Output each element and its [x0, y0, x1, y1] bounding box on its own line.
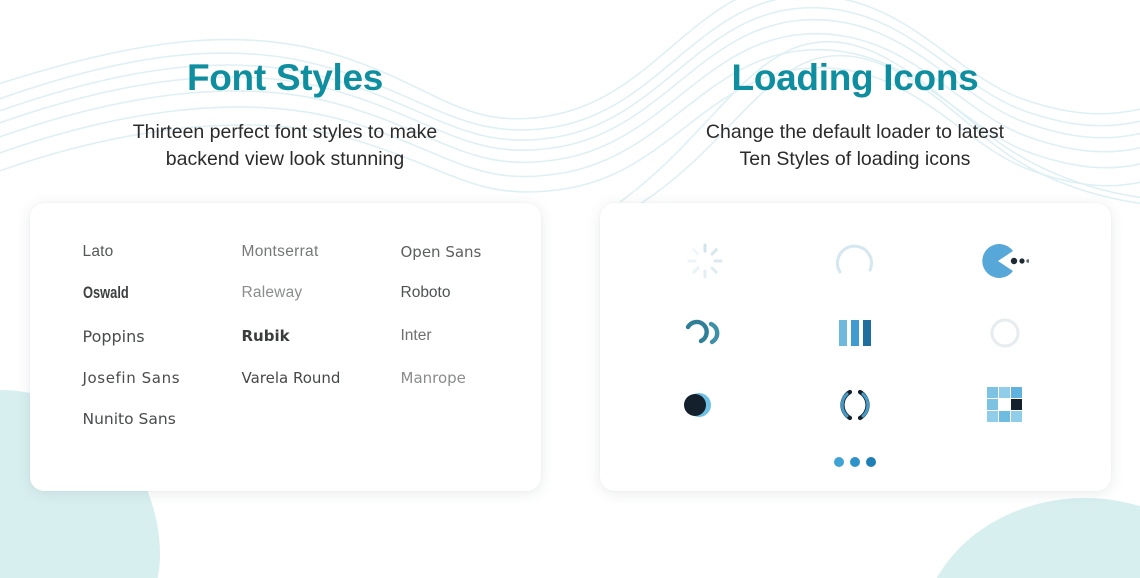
paren-arcs-icon	[835, 385, 875, 425]
three-bars-icon	[835, 316, 875, 350]
font-item-varela-round[interactable]: Varela Round	[242, 369, 401, 387]
font-item-nunito-sans[interactable]: Nunito Sans	[83, 410, 242, 429]
spinner-dashes-icon	[685, 241, 725, 281]
loader-cell-4[interactable]	[675, 303, 735, 363]
loader-row-4	[630, 441, 1081, 483]
double-crescent-icon	[682, 317, 728, 349]
loader-cell-2[interactable]	[825, 231, 885, 291]
loader-cell-6[interactable]	[975, 303, 1035, 363]
font-item-manrope[interactable]: Manrope	[401, 369, 497, 387]
font-item-open-sans[interactable]: Open Sans	[401, 243, 497, 262]
font-item-lato[interactable]: Lato	[83, 243, 242, 262]
loader-cell-8[interactable]	[825, 375, 885, 435]
font-item-oswald[interactable]: Oswald	[83, 284, 207, 304]
loading-icons-subtitle-line-1: Change the default loader to latest	[706, 121, 1004, 143]
loader-cell-1[interactable]	[675, 231, 735, 291]
font-item-raleway[interactable]: Raleway	[242, 284, 401, 304]
loader-cell-7[interactable]	[675, 375, 735, 435]
font-item-montserrat[interactable]: Montserrat	[242, 243, 401, 262]
font-item-inter[interactable]: Inter	[401, 327, 497, 346]
loader-cell-3[interactable]	[975, 231, 1035, 291]
pacman-loader-icon	[981, 244, 1029, 278]
font-item-rubik[interactable]: Rubik	[242, 327, 401, 346]
loading-icons-subtitle-line-2: Ten Styles of loading icons	[740, 148, 971, 170]
font-grid-spacer-a	[242, 410, 401, 429]
font-styles-subtitle-line-2: backend view look stunning	[166, 148, 405, 170]
panel-loading-icons: Loading Icons Change the default loader …	[570, 0, 1140, 578]
grid-squares-icon	[986, 386, 1024, 424]
loader-cell-10[interactable]	[825, 432, 885, 492]
font-styles-subtitle-line-1: Thirteen perfect font styles to make	[133, 121, 438, 143]
font-styles-title: Font Styles	[187, 58, 383, 99]
panel-font-styles: Font Styles Thirteen perfect font styles…	[0, 0, 570, 578]
font-styles-subtitle: Thirteen perfect font styles to make bac…	[133, 119, 438, 173]
page-stage: Font Styles Thirteen perfect font styles…	[0, 0, 1140, 578]
arc-spinner-icon	[833, 239, 877, 283]
two-circles-icon	[682, 390, 728, 420]
loading-icons-card	[600, 203, 1111, 491]
font-item-josefin-sans[interactable]: Josefin Sans	[83, 369, 242, 387]
loader-cell-9[interactable]	[975, 375, 1035, 435]
font-styles-card: Lato Montserrat Open Sans Oswald Raleway…	[30, 203, 541, 491]
loader-cell-5[interactable]	[825, 303, 885, 363]
font-item-poppins[interactable]: Poppins	[83, 327, 242, 346]
loader-grid	[630, 225, 1081, 441]
font-list: Lato Montserrat Open Sans Oswald Raleway…	[83, 243, 497, 429]
loading-icons-title: Loading Icons	[732, 58, 979, 99]
three-dots-icon	[832, 454, 878, 470]
loading-icons-subtitle: Change the default loader to latest Ten …	[706, 119, 1004, 173]
panels-container: Font Styles Thirteen perfect font styles…	[0, 0, 1140, 578]
font-item-roboto[interactable]: Roboto	[401, 284, 497, 304]
font-grid-spacer-b	[401, 410, 497, 429]
ring-outline-icon	[987, 315, 1023, 351]
